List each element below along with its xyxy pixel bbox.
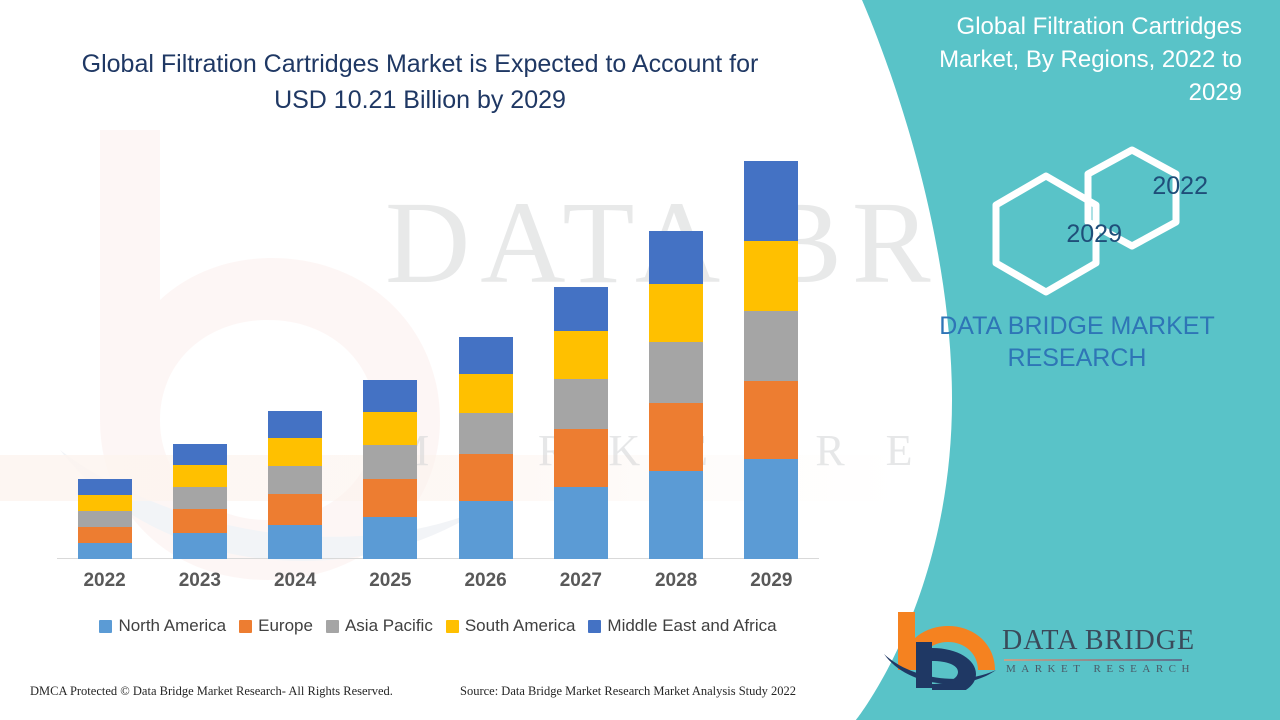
x-axis-label: 2023 xyxy=(152,570,247,592)
bar-column xyxy=(152,150,247,559)
bar-segment xyxy=(744,311,798,381)
bar-column xyxy=(57,150,152,559)
stacked-bar xyxy=(78,479,132,559)
bar-segment xyxy=(268,438,322,466)
x-axis-label: 2029 xyxy=(724,570,819,592)
x-axis-label: 2027 xyxy=(533,570,628,592)
stacked-bar-chart xyxy=(57,150,819,559)
bar-segment xyxy=(744,161,798,241)
panel-brand-name: DATA BRIDGE MARKET RESEARCH xyxy=(912,310,1242,374)
bar-segment xyxy=(268,494,322,525)
bar-segment xyxy=(459,413,513,454)
bar-segment xyxy=(744,241,798,311)
x-axis-label: 2026 xyxy=(438,570,533,592)
legend-swatch-icon xyxy=(239,620,252,633)
bar-segment xyxy=(78,511,132,527)
bar-segment xyxy=(268,466,322,494)
logo-divider xyxy=(1004,659,1182,661)
page-title: Global Filtration Cartridges Market is E… xyxy=(70,46,770,118)
bar-segment xyxy=(78,495,132,511)
bar-segment xyxy=(459,337,513,374)
legend-item[interactable]: Asia Pacific xyxy=(326,616,433,636)
bar-segment xyxy=(363,517,417,559)
bar-column xyxy=(248,150,343,559)
stacked-bar xyxy=(363,380,417,559)
bar-segment xyxy=(649,403,703,471)
logo-subtext: MARKET RESEARCH xyxy=(1006,663,1195,675)
stacked-bar xyxy=(744,161,798,559)
bar-segment xyxy=(268,525,322,559)
bar-column xyxy=(629,150,724,559)
bar-segment xyxy=(649,284,703,342)
bar-segment xyxy=(268,411,322,438)
logo-wordmark: DATA BRIDGE xyxy=(1002,625,1195,657)
bar-column xyxy=(438,150,533,559)
x-axis-label: 2028 xyxy=(629,570,724,592)
bar-segment xyxy=(554,287,608,331)
logo-mark-icon xyxy=(882,610,1000,690)
legend-label: Asia Pacific xyxy=(345,616,433,636)
poster-canvas: DATA BRIDGE M A R K E T R E S E A R C H … xyxy=(0,0,1280,720)
bar-segment xyxy=(649,342,703,403)
bar-segment xyxy=(649,231,703,284)
legend-label: North America xyxy=(118,616,226,636)
legend-label: South America xyxy=(465,616,576,636)
bar-segment xyxy=(554,331,608,379)
hexagon-group xyxy=(980,138,1220,298)
stacked-bar xyxy=(268,411,322,559)
bar-segment xyxy=(173,444,227,465)
stacked-bar xyxy=(554,287,608,559)
data-bridge-logo: DATA BRIDGE MARKET RESEARCH xyxy=(882,607,1112,692)
legend-swatch-icon xyxy=(326,620,339,633)
bar-segment xyxy=(459,454,513,501)
legend-swatch-icon xyxy=(588,620,601,633)
bar-segment xyxy=(744,381,798,459)
x-axis-label: 2025 xyxy=(343,570,438,592)
bar-segment xyxy=(459,374,513,413)
bar-segment xyxy=(649,471,703,559)
bar-segment xyxy=(173,487,227,509)
bar-segment xyxy=(744,459,798,559)
bar-segment xyxy=(78,543,132,559)
x-axis-label: 2022 xyxy=(57,570,152,592)
bar-segment xyxy=(363,479,417,517)
legend-item[interactable]: Middle East and Africa xyxy=(588,616,776,636)
legend-item[interactable]: South America xyxy=(446,616,576,636)
legend-item[interactable]: North America xyxy=(99,616,226,636)
bar-segment xyxy=(554,487,608,559)
chart-legend: North AmericaEuropeAsia PacificSouth Ame… xyxy=(57,616,819,636)
bar-segment xyxy=(78,527,132,543)
bar-segment xyxy=(173,533,227,559)
bar-column xyxy=(724,150,819,559)
bar-segment xyxy=(459,501,513,559)
x-axis-label: 2024 xyxy=(248,570,343,592)
panel-heading: Global Filtration Cartridges Market, By … xyxy=(902,10,1242,109)
bar-segment xyxy=(173,465,227,487)
stacked-bar xyxy=(649,231,703,559)
legend-label: Middle East and Africa xyxy=(607,616,776,636)
hexagon-2029-label: 2029 xyxy=(1066,220,1122,249)
bar-segment xyxy=(173,509,227,533)
legend-swatch-icon xyxy=(446,620,459,633)
hexagon-2022-label: 2022 xyxy=(1152,172,1208,201)
footer-copyright: DMCA Protected © Data Bridge Market Rese… xyxy=(30,684,393,699)
legend-label: Europe xyxy=(258,616,313,636)
bar-column xyxy=(343,150,438,559)
chart-x-axis-labels: 20222023202420252026202720282029 xyxy=(57,570,819,592)
stacked-bar xyxy=(459,337,513,559)
bar-segment xyxy=(554,379,608,429)
bar-segment xyxy=(363,412,417,445)
bar-segment xyxy=(363,380,417,412)
bar-segment xyxy=(78,479,132,495)
footer-source: Source: Data Bridge Market Research Mark… xyxy=(460,684,796,699)
bar-segment xyxy=(554,429,608,487)
bar-segment xyxy=(363,445,417,479)
bar-column xyxy=(533,150,628,559)
legend-swatch-icon xyxy=(99,620,112,633)
legend-item[interactable]: Europe xyxy=(239,616,313,636)
stacked-bar xyxy=(173,444,227,559)
